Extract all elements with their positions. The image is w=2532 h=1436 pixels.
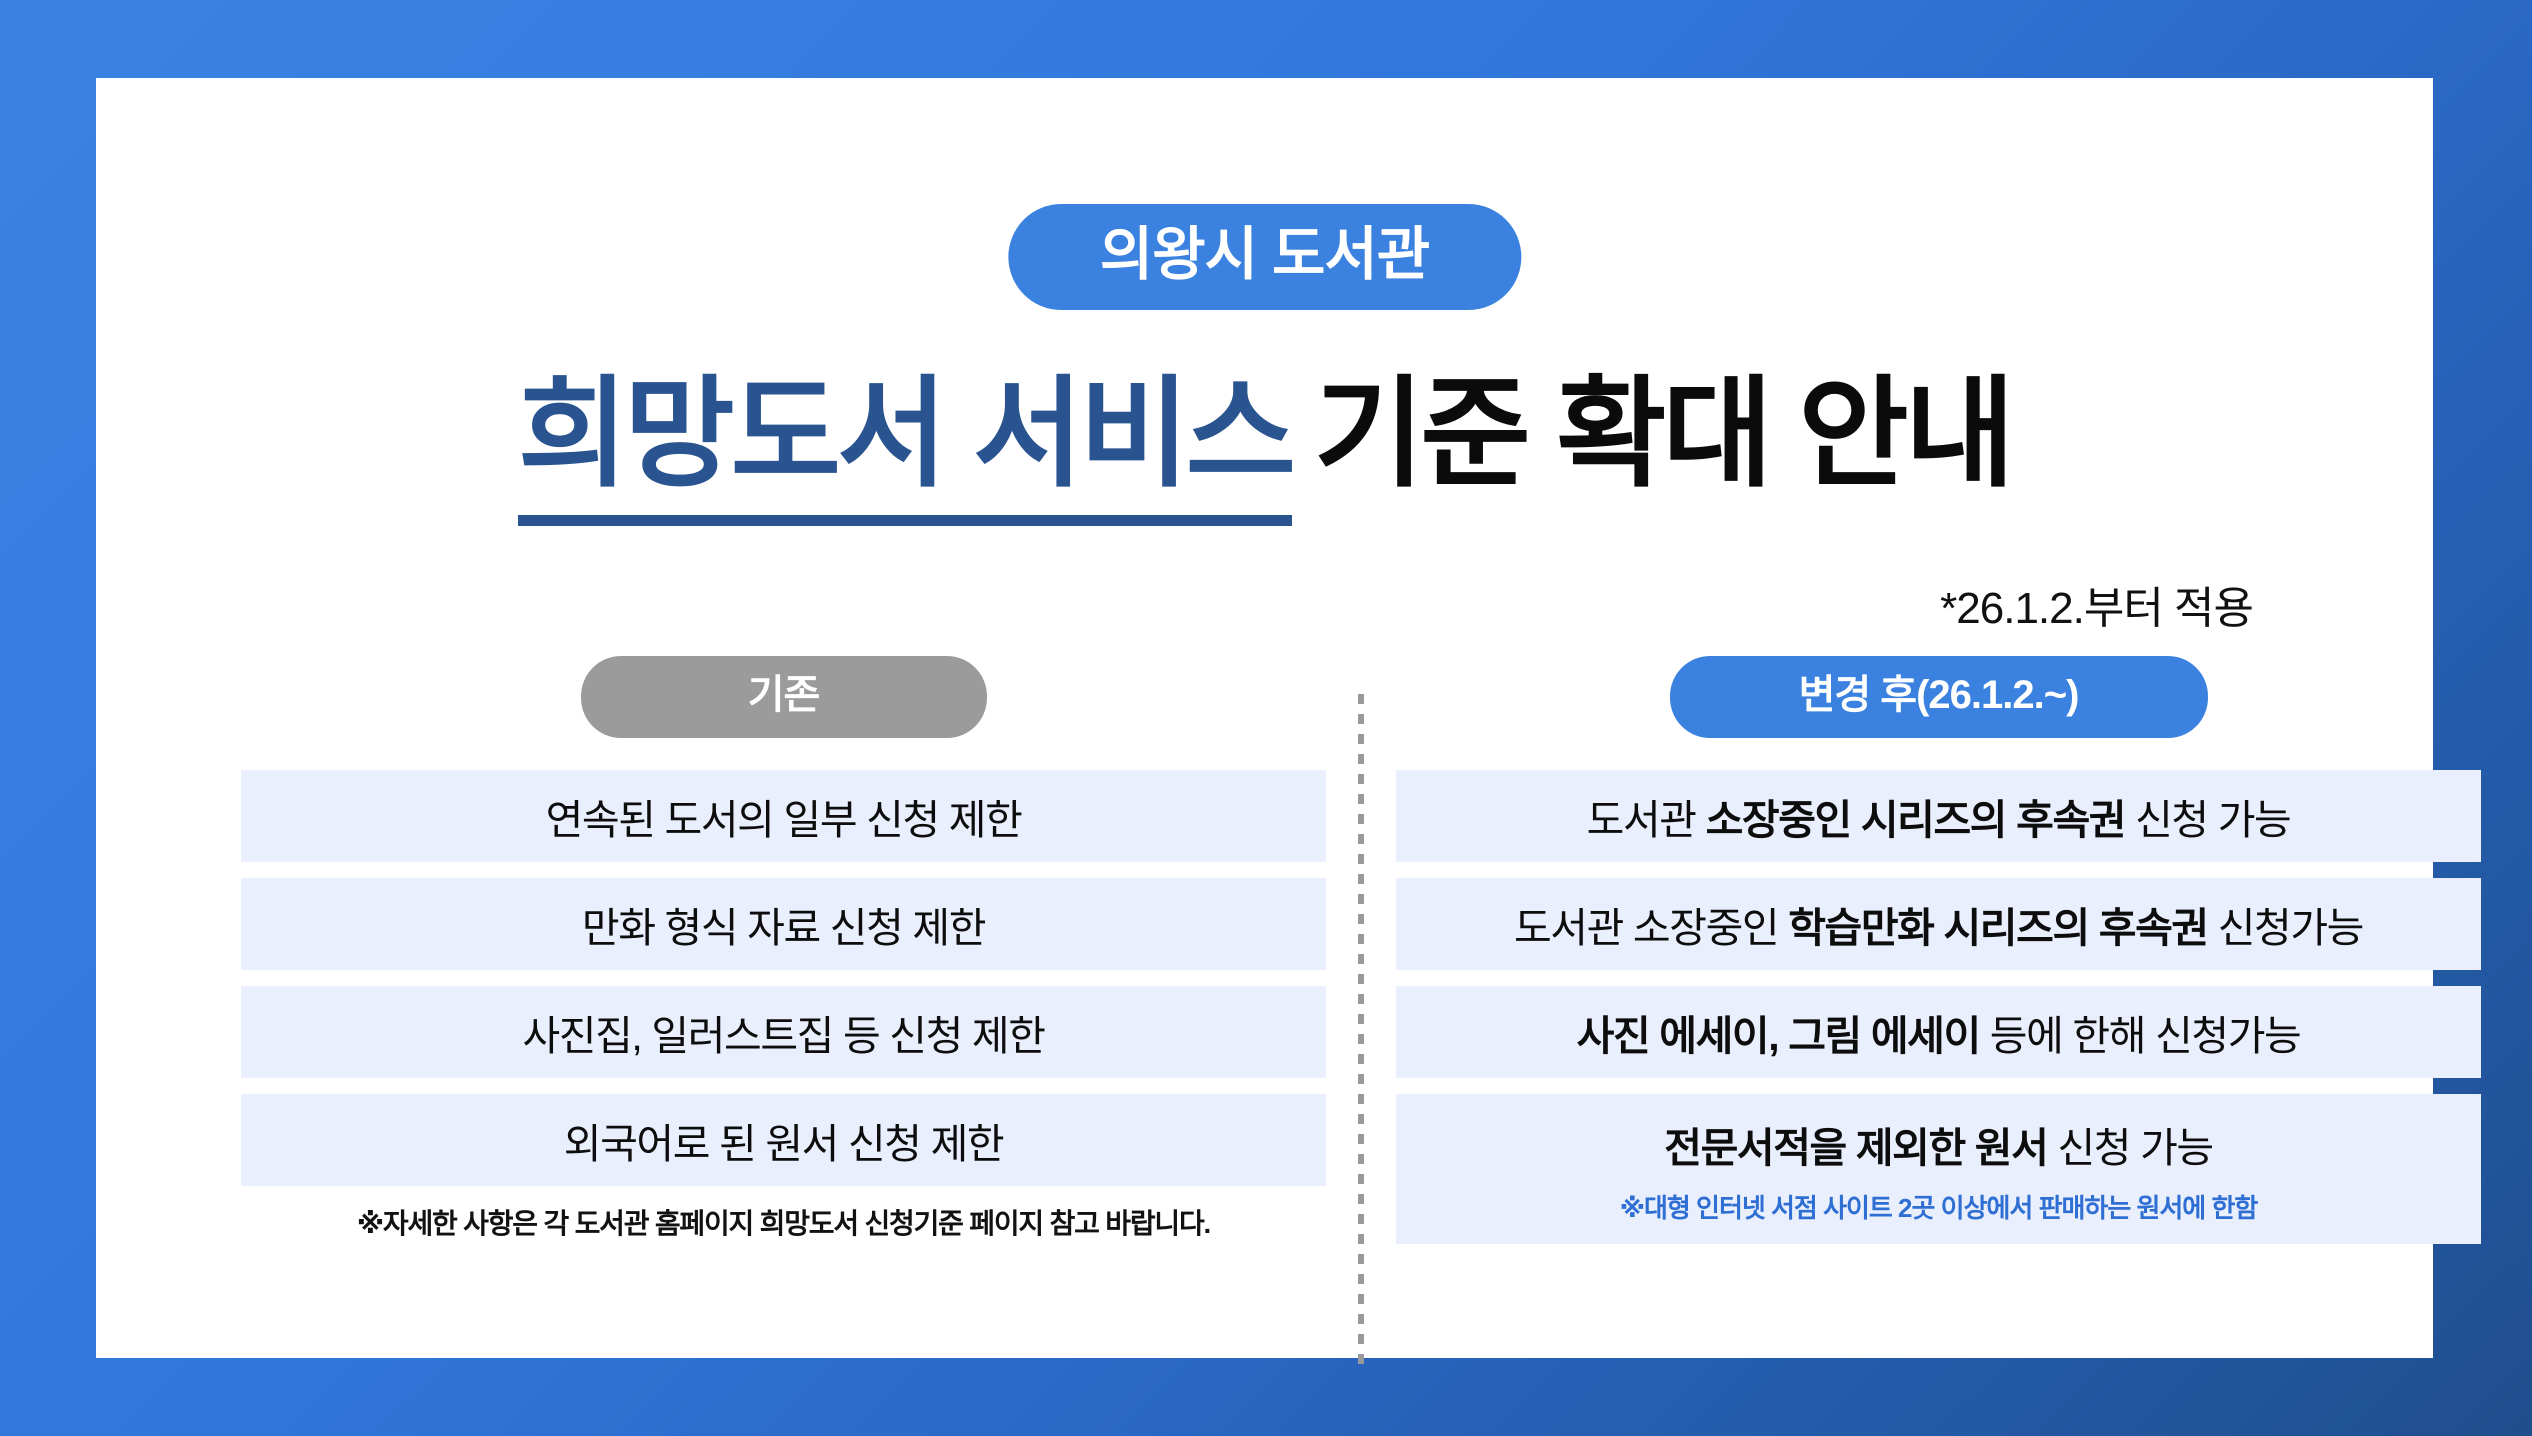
page-title-rest: 기준 확대 안내 — [1292, 367, 2011, 501]
library-badge: 의왕시 도서관 — [1008, 204, 1521, 310]
pill-after: 변경 후(26.1.2.~) — [1670, 656, 2208, 738]
row-text-bold: 사진 에세이, 그림 에세이 — [1577, 1013, 1980, 1059]
column-before: 기존 연속된 도서의 일부 신청 제한 만화 형식 자료 신청 제한 사진집, … — [241, 656, 1326, 1242]
table-row: 사진 에세이, 그림 에세이 등에 한해 신청가능 — [1396, 986, 2481, 1078]
poster-root: 의왕시 도서관 희망도서 서비스기준 확대 안내 *26.1.2.부터 적용 기… — [0, 0, 2532, 1436]
table-row: 도서관 소장중인 시리즈의 후속권 신청 가능 — [1396, 770, 2481, 862]
row-text: 전문서적을 제외한 원서 신청 가능 — [1664, 1114, 2212, 1174]
comparison-section: 기존 연속된 도서의 일부 신청 제한 만화 형식 자료 신청 제한 사진집, … — [192, 656, 2532, 1376]
table-row: 외국어로 된 원서 신청 제한 — [241, 1094, 1326, 1186]
row-text: 도서관 소장중인 시리즈의 후속권 신청 가능 — [1587, 786, 2291, 846]
table-row: 도서관 소장중인 학습만화 시리즈의 후속권 신청가능 — [1396, 878, 2481, 970]
row-text: 사진집, 일러스트집 등 신청 제한 — [522, 1002, 1044, 1062]
row-text-prefix: 도서관 소장중인 — [1514, 905, 1788, 951]
table-row: 만화 형식 자료 신청 제한 — [241, 878, 1326, 970]
row-text-prefix: 도서관 — [1587, 797, 1706, 843]
row-text-suffix: 등에 한해 신청가능 — [1980, 1013, 2301, 1059]
pill-before: 기존 — [581, 656, 987, 738]
column-after-header: 변경 후(26.1.2.~) — [1396, 656, 2481, 738]
row-text: 만화 형식 자료 신청 제한 — [582, 894, 985, 954]
column-before-footnote: ※자세한 사항은 각 도서관 홈페이지 희망도서 신청기준 페이지 참고 바랍니… — [241, 1202, 1326, 1242]
effective-date-note: *26.1.2.부터 적용 — [1940, 572, 2253, 636]
row-text-suffix: 신청가능 — [2208, 905, 2363, 951]
table-row: 전문서적을 제외한 원서 신청 가능 ※대형 인터넷 서점 사이트 2곳 이상에… — [1396, 1094, 2481, 1244]
row-sub-note: ※대형 인터넷 서점 사이트 2곳 이상에서 판매하는 원서에 한함 — [1620, 1188, 2258, 1225]
page-title: 희망도서 서비스기준 확대 안내 — [96, 374, 2433, 494]
row-text: 연속된 도서의 일부 신청 제한 — [546, 786, 1022, 846]
row-text-suffix: 신청 가능 — [2125, 797, 2290, 843]
column-divider — [1358, 694, 1364, 1364]
row-text-bold: 소장중인 시리즈의 후속권 — [1706, 797, 2126, 843]
table-row: 사진집, 일러스트집 등 신청 제한 — [241, 986, 1326, 1078]
content-card: 의왕시 도서관 희망도서 서비스기준 확대 안내 *26.1.2.부터 적용 기… — [96, 78, 2433, 1358]
row-text: 도서관 소장중인 학습만화 시리즈의 후속권 신청가능 — [1514, 894, 2363, 954]
row-text: 사진 에세이, 그림 에세이 등에 한해 신청가능 — [1577, 1002, 2301, 1062]
row-text-bold: 전문서적을 제외한 원서 — [1664, 1125, 2047, 1171]
row-text-suffix: 신청 가능 — [2047, 1125, 2212, 1171]
column-before-header: 기존 — [241, 656, 1326, 738]
column-after: 변경 후(26.1.2.~) 도서관 소장중인 시리즈의 후속권 신청 가능 도… — [1396, 656, 2481, 1260]
table-row: 연속된 도서의 일부 신청 제한 — [241, 770, 1326, 862]
row-text: 외국어로 된 원서 신청 제한 — [564, 1110, 1003, 1170]
row-text-bold: 학습만화 시리즈의 후속권 — [1788, 905, 2208, 951]
page-title-highlight: 희망도서 서비스 — [518, 367, 1292, 526]
